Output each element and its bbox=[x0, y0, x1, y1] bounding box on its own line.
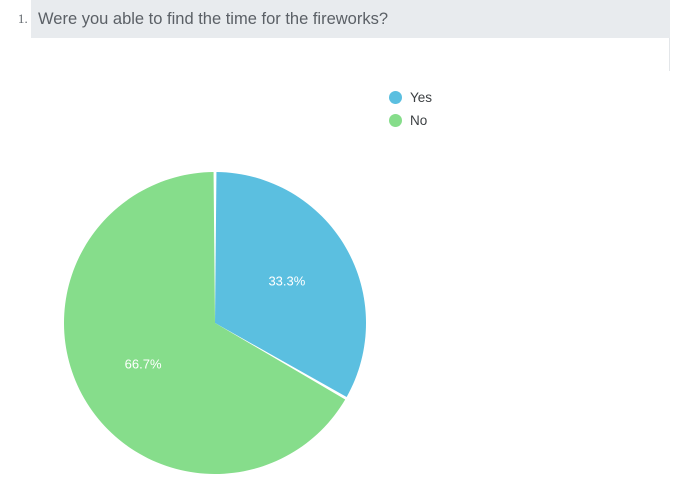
pie-chart-area: Yes No 33.3% 66.7% bbox=[31, 38, 669, 482]
pie-label-no: 66.7% bbox=[125, 357, 162, 372]
question-number: 1. bbox=[10, 11, 28, 27]
pie-label-yes: 33.3% bbox=[268, 273, 305, 288]
card-right-rule bbox=[669, 38, 670, 71]
page-title: Were you able to find the time for the f… bbox=[38, 9, 388, 30]
pie-chart-svg: 33.3% 66.7% bbox=[31, 38, 669, 482]
survey-question-block: 1. Were you able to find the time for th… bbox=[0, 0, 677, 482]
